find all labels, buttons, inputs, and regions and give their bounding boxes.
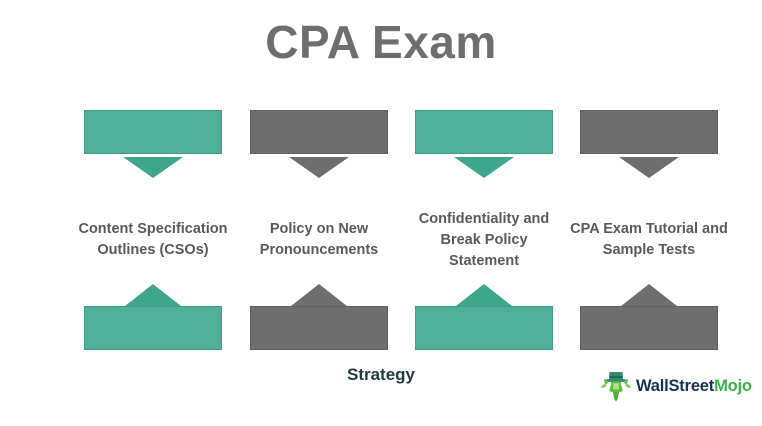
arrow-down-icon — [454, 157, 514, 178]
logo-wordmark: WallStreetMojo — [636, 377, 752, 396]
top-bar — [415, 110, 553, 154]
wallstreetmojo-logo: WallStreetMojo — [598, 367, 748, 405]
diagram-column: Confidentiality and Break Policy Stateme… — [415, 110, 553, 350]
diagram-column: Policy on New Pronouncements — [250, 110, 388, 350]
bottom-bar — [250, 306, 388, 350]
arrow-down-icon — [123, 157, 183, 178]
diagram-column: Content Specification Outlines (CSOs) — [84, 110, 222, 350]
top-bar — [84, 110, 222, 154]
column-label: CPA Exam Tutorial and Sample Tests — [570, 200, 728, 280]
column-label: Confidentiality and Break Policy Stateme… — [405, 200, 563, 280]
page-title: CPA Exam — [0, 14, 762, 70]
arrow-up-icon — [125, 284, 181, 306]
arrow-down-icon — [289, 157, 349, 178]
column-label: Content Specification Outlines (CSOs) — [74, 200, 232, 280]
bottom-bar — [84, 306, 222, 350]
logo-text-primary: WallStreet — [636, 377, 714, 395]
column-label: Policy on New Pronouncements — [240, 200, 398, 280]
diagram-column: CPA Exam Tutorial and Sample Tests — [580, 110, 718, 350]
top-bar — [580, 110, 718, 154]
bottom-bar — [580, 306, 718, 350]
wallstreetmojo-mascot-icon — [598, 368, 634, 404]
arrow-up-icon — [291, 284, 347, 306]
top-bar — [250, 110, 388, 154]
arrow-up-icon — [621, 284, 677, 306]
bottom-bar — [415, 306, 553, 350]
logo-text-accent: Mojo — [714, 377, 752, 395]
arrow-down-icon — [619, 157, 679, 178]
infographic-canvas: CPA Exam Content Specification Outlines … — [0, 0, 762, 426]
arrow-up-icon — [456, 284, 512, 306]
